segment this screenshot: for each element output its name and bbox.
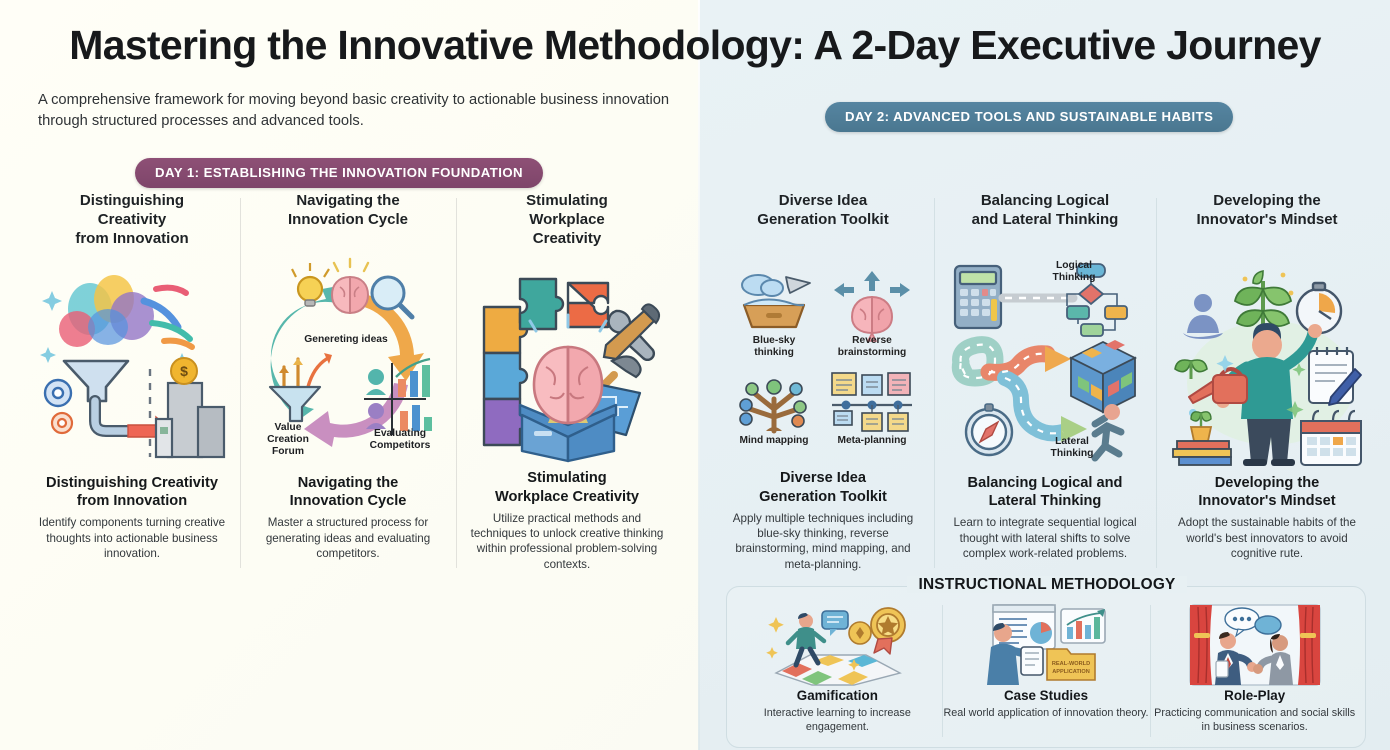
growth-mindset-habits-illustration [1164,250,1370,472]
column-footer-description: Learn to integrate sequential logical th… [942,515,1148,561]
column-heading: Developing the Innovator's Mindset [1196,192,1337,250]
column-footer-description: Master a structured process for generati… [248,515,448,561]
instructional-item-name: Case Studies [1004,688,1088,703]
infographic-poster: Mastering the Innovative Methodology: A … [0,0,1390,750]
column-heading: Diverse Idea Generation Toolkit [757,192,888,249]
page-title: Mastering the Innovative Methodology: A … [0,22,1390,69]
day1-badge: DAY 1: ESTABLISHING THE INNOVATION FOUND… [135,158,543,188]
instructional-methodology-panel: INSTRUCTIONAL METHODOLOGY [726,586,1366,748]
cycle-label-value-creation-forum: Value Creation Forum [254,422,322,458]
analyst-charts-folder-illustration: REAL-WORLD APPLICATION [971,603,1121,685]
instructional-item-gamification: Gamification Interactive learning to inc… [733,603,942,747]
instructional-methodology-title: INSTRUCTIONAL METHODOLOGY [727,576,1367,594]
column-footer-description: Adopt the sustainable habits of the worl… [1164,515,1370,561]
idea-toolkit-grid-illustration: Blue-sky thinking [720,249,926,467]
tool-mind-mapping: Mind mapping [728,369,820,447]
column-footer-description: Identify components turning creative tho… [32,515,232,561]
column-footer-title: Navigating the Innovation Cycle [290,474,407,510]
column-footer-description: Apply multiple techniques including blue… [720,511,926,572]
instructional-item-name: Role-Play [1224,688,1285,703]
lateral-thinking-label: Lateral Thinking [1038,436,1106,460]
column-footer-title: Stimulating Workplace Creativity [495,469,639,505]
instructional-item-name: Gamification [797,688,878,703]
tool-reverse-brainstorming: Reverse brainstorming [826,269,918,359]
chessboard-badges-illustration [762,603,912,685]
column-footer-title: Balancing Logical and Lateral Thinking [968,474,1123,510]
sticky-notes-timeline-icon [826,369,918,435]
instructional-item-role-play: Role-Play Practicing communication and s… [1150,603,1359,747]
column-heading: Navigating the Innovation Cycle [288,192,408,250]
logical-thinking-label: Logical Thinking [1040,260,1108,284]
brain-arrows-icon [826,269,918,335]
instructional-item-description: Real world application of innovation the… [943,706,1148,720]
tool-label: Mind mapping [739,435,808,447]
tool-label: Reverse brainstorming [838,335,907,359]
day1-column-distinguishing-creativity: Distinguishing Creativity from Innovatio… [24,192,240,572]
column-footer-title: Diverse Idea Generation Toolkit [759,469,887,505]
page-subtitle: A comprehensive framework for moving bey… [38,90,678,132]
day2-column-logical-lateral: Balancing Logical and Lateral Thinking [934,192,1156,572]
column-footer-title: Distinguishing Creativity from Innovatio… [46,474,218,510]
tool-label: Blue-sky thinking [753,335,795,359]
tool-meta-planning: Meta-planning [826,369,918,447]
cloud-box-icon [728,269,820,335]
column-heading: Stimulating Workplace Creativity [526,192,608,249]
svg-text:$: $ [180,363,188,379]
column-heading: Balancing Logical and Lateral Thinking [972,192,1119,250]
two-people-stage-dialog-illustration [1180,603,1330,685]
instructional-item-case-studies: REAL-WORLD APPLICATION Case Studies Real… [942,603,1151,747]
column-heading: Distinguishing Creativity from Innovatio… [75,192,188,250]
instructional-item-description: Practicing communication and social skil… [1152,706,1358,734]
day1-column-innovation-cycle: Navigating the Innovation Cycle [240,192,456,572]
creativity-funnel-to-business-illustration: $ [32,250,232,472]
instructional-item-description: Interactive learning to increase engagem… [734,706,940,734]
cycle-label-generating-ideas: Genereting ideas [304,334,388,346]
day2-column-idea-toolkit: Diverse Idea Generation Toolkit [712,192,934,572]
cycle-label-evaluating-competitors: Evaluating Competitors [360,428,440,452]
brain-in-box-with-tools-illustration [464,249,670,467]
tool-blue-sky-thinking: Blue-sky thinking [728,269,820,359]
logical-lateral-thinking-illustration: Logical Thinking Lateral Thinking [942,250,1148,472]
day2-badge: DAY 2: ADVANCED TOOLS AND SUSTAINABLE HA… [825,102,1233,132]
folder-label-line1: REAL-WORLD [1052,661,1090,667]
day1-column-workplace-creativity: Stimulating Workplace Creativity [456,192,678,572]
day2-column-innovators-mindset: Developing the Innovator's Mindset [1156,192,1378,572]
day2-columns: Diverse Idea Generation Toolkit [712,192,1378,572]
node-tree-icon [728,369,820,435]
innovation-cycle-illustration: Genereting ideas Evaluating Competitors … [248,250,448,472]
folder-label-line2: APPLICATION [1052,669,1090,675]
tool-label: Meta-planning [837,435,906,447]
panel-divider [698,0,700,750]
day1-columns: Distinguishing Creativity from Innovatio… [24,192,676,572]
column-footer-description: Utilize practical methods and techniques… [464,511,670,572]
column-footer-title: Developing the Innovator's Mindset [1198,474,1335,510]
